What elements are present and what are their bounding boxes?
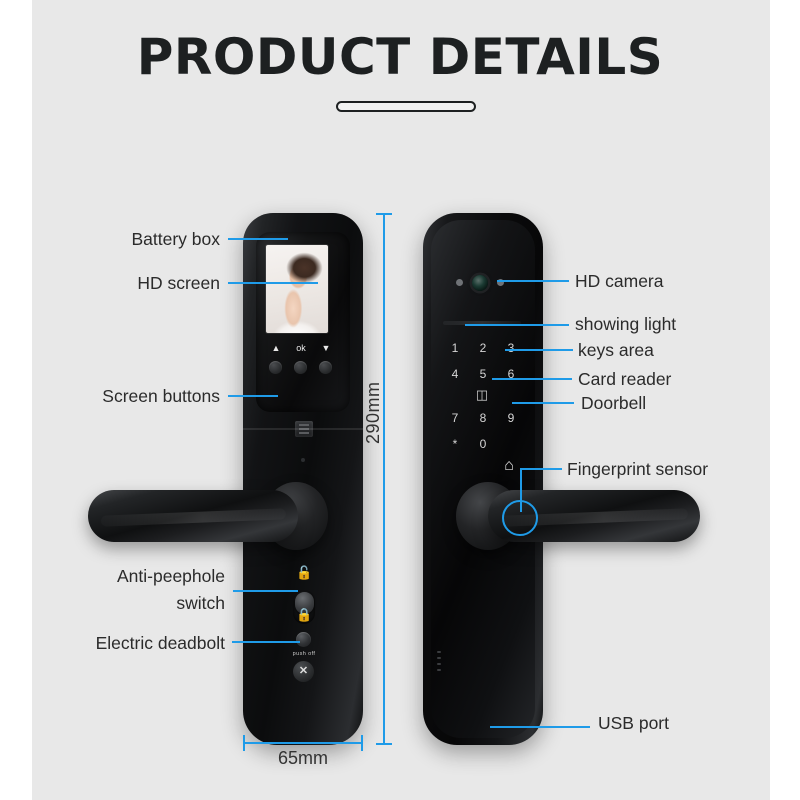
key-star[interactable]: * <box>443 437 467 451</box>
card-reader-icon[interactable]: ◫ <box>471 387 493 403</box>
interior-door-handle[interactable] <box>88 490 298 542</box>
reset-button[interactable]: ✕ <box>293 661 314 682</box>
hd-camera-icon <box>472 275 488 291</box>
screen-button-ok[interactable] <box>294 361 307 374</box>
electric-deadbolt-button[interactable] <box>296 632 311 647</box>
up-button-glyph: ▲ <box>268 343 284 353</box>
height-dimension-cap-bottom <box>376 743 392 745</box>
key-2[interactable]: 2 <box>471 341 495 355</box>
body-seam-line <box>243 428 363 430</box>
leader-anti-peephole <box>233 590 298 592</box>
label-card-reader: Card reader <box>578 368 778 392</box>
pinhole-icon <box>301 458 305 462</box>
key-3[interactable]: 3 <box>499 341 523 355</box>
product-details-infographic: PRODUCT DETAILS ▲ ok ▼ 🔓 🔒 push off ✕ <box>0 0 800 800</box>
doorbell-icon[interactable]: ⌂ <box>497 457 521 475</box>
screen-button-up[interactable] <box>269 361 282 374</box>
usb-port-vents <box>437 651 441 681</box>
key-8[interactable]: 8 <box>471 411 495 425</box>
leader-showing-light <box>465 324 569 326</box>
push-off-label: push off <box>287 651 321 657</box>
leader-hd-screen <box>228 282 318 284</box>
screen-portrait-image <box>266 245 328 333</box>
key-0[interactable]: 0 <box>471 437 495 451</box>
ir-sensor-left-icon <box>456 279 463 286</box>
label-screen-buttons: Screen buttons <box>50 385 220 409</box>
label-anti-peephole-line2: switch <box>70 592 225 616</box>
leader-doorbell <box>512 402 574 404</box>
leader-hd-camera <box>497 280 569 282</box>
width-dimension-label: 65mm <box>243 748 363 769</box>
label-keys-area: keys area <box>578 339 778 363</box>
down-button-glyph: ▼ <box>318 343 334 353</box>
label-doorbell: Doorbell <box>581 392 781 416</box>
exterior-lock-body: 1 2 3 4 5 6 ◫ 7 8 9 * 0 ⌂ <box>423 213 543 745</box>
label-hd-camera: HD camera <box>575 270 775 294</box>
title-underline-bar <box>336 101 476 112</box>
leader-fingerprint-sensor-h <box>520 468 562 470</box>
hd-screen <box>266 245 328 333</box>
leader-card-reader <box>492 378 572 380</box>
leader-battery-box <box>228 238 288 240</box>
label-showing-light: showing light <box>575 313 775 337</box>
leader-screen-buttons <box>228 395 278 397</box>
height-dimension-line <box>383 213 385 745</box>
key-7[interactable]: 7 <box>443 411 467 425</box>
label-hd-screen: HD screen <box>80 272 220 296</box>
leader-fingerprint-sensor-v <box>520 468 522 512</box>
ok-button-glyph: ok <box>293 343 309 353</box>
padlock-closed-icon: 🔒 <box>296 607 310 622</box>
page-title: PRODUCT DETAILS <box>0 28 800 86</box>
handle-highlight <box>100 508 285 526</box>
label-battery-box: Battery box <box>80 228 220 252</box>
key-4[interactable]: 4 <box>443 367 467 381</box>
label-electric-deadbolt: Electric deadbolt <box>45 632 225 656</box>
key-1[interactable]: 1 <box>443 341 467 355</box>
label-anti-peephole-line1: Anti-peephole <box>70 565 225 589</box>
screen-button-down[interactable] <box>319 361 332 374</box>
leader-keys-area <box>505 349 573 351</box>
label-fingerprint-sensor: Fingerprint sensor <box>567 458 797 482</box>
keys-area[interactable]: 1 2 3 4 5 6 ◫ 7 8 9 * 0 ⌂ <box>441 341 525 487</box>
padlock-open-icon: 🔓 <box>296 565 310 580</box>
width-dimension-line <box>243 742 363 744</box>
interior-lock-body: ▲ ok ▼ 🔓 🔒 push off ✕ <box>243 213 363 745</box>
leader-electric-deadbolt <box>232 641 300 643</box>
height-dimension-cap-top <box>376 213 392 215</box>
height-dimension-label: 290mm <box>363 381 384 444</box>
leader-usb-port <box>490 726 590 728</box>
key-9[interactable]: 9 <box>499 411 523 425</box>
label-usb-port: USB port <box>598 712 778 736</box>
